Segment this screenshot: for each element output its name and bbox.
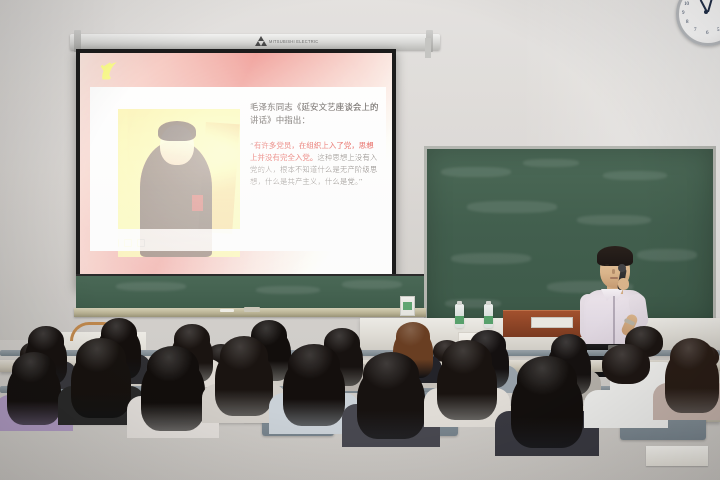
slide-text-block: 毛泽东同志《延安文艺座谈会上的讲话》中指出： “有许多党员，在组织上入了党，思想…: [250, 101, 380, 188]
student: [596, 344, 656, 408]
screen-brand-label: MITSUBISHI ELECTRIC: [269, 38, 318, 44]
student: [436, 340, 498, 406]
hammer-and-sickle-icon: [98, 59, 128, 85]
student-head: [396, 322, 430, 351]
student: [356, 352, 426, 424]
student-head: [220, 336, 268, 377]
water-bottle[interactable]: [455, 304, 464, 328]
board-eraser[interactable]: [244, 307, 260, 312]
student-head: [517, 356, 576, 403]
green-chalkboard: [424, 146, 716, 326]
lecturer-shirt-placket: [613, 296, 615, 346]
mitsubishi-logo: MITSUBISHI ELECTRIC: [255, 36, 318, 46]
student: [140, 346, 206, 416]
student: [510, 356, 584, 432]
student-head: [363, 352, 419, 397]
projection-screen-housing: MITSUBISHI ELECTRIC: [70, 34, 440, 50]
microphone-head: [618, 264, 626, 272]
podium-nameplate: [531, 317, 573, 328]
prev-slide-icon[interactable]: [98, 239, 106, 247]
portrait-badge: [192, 195, 203, 211]
projection-screen: 毛泽东同志《延安文艺座谈会上的讲话》中指出： “有许多党员，在组织上入了党，思想…: [76, 49, 396, 289]
student-head: [670, 338, 715, 376]
three-diamond-icon: [255, 36, 266, 46]
student: [70, 338, 132, 404]
menu-icon[interactable]: [124, 239, 132, 247]
lecturer-hair: [597, 246, 633, 266]
student-head: [76, 338, 126, 379]
student-head: [602, 344, 650, 384]
student: [214, 336, 274, 402]
student-head: [12, 352, 57, 389]
student: [664, 338, 720, 400]
water-bottle[interactable]: [484, 304, 493, 328]
student: [282, 344, 346, 412]
lecturer-hand: [618, 278, 629, 290]
pen-icon[interactable]: [111, 239, 119, 247]
lecturer-nose: [612, 269, 615, 274]
chalk-stick[interactable]: [220, 309, 234, 312]
tissue-box[interactable]: [400, 296, 415, 316]
lecturer-mouth: [610, 277, 618, 279]
student-head: [442, 340, 492, 381]
student: [6, 352, 62, 412]
student-head: [147, 346, 200, 389]
presentation-controls[interactable]: [98, 239, 145, 247]
open-book[interactable]: [646, 446, 708, 466]
slide-content-panel: 毛泽东同志《延安文艺座谈会上的讲话》中指出： “有许多党员，在组织上入了党，思想…: [90, 87, 386, 251]
slide-title: 毛泽东同志《延安文艺座谈会上的讲话》中指出：: [250, 101, 380, 127]
next-slide-icon[interactable]: [137, 239, 145, 247]
classroom-photo: 12 1 2 3 4 5 6 7 8 9 10 11 MITSUBISHI EL…: [0, 0, 720, 480]
portrait-hair: [158, 121, 196, 141]
presentation-slide: 毛泽东同志《延安文艺座谈会上的讲话》中指出： “有许多党员，在组织上入了党，思想…: [80, 53, 392, 285]
student-head: [288, 344, 339, 386]
lecturer-eye-left: [605, 264, 609, 266]
slide-quote: “有许多党员，在组织上入了党，思想上并没有完全入党。这种思想上没有入党的人，根本…: [250, 140, 380, 188]
screen-wall-mount: [425, 38, 431, 58]
